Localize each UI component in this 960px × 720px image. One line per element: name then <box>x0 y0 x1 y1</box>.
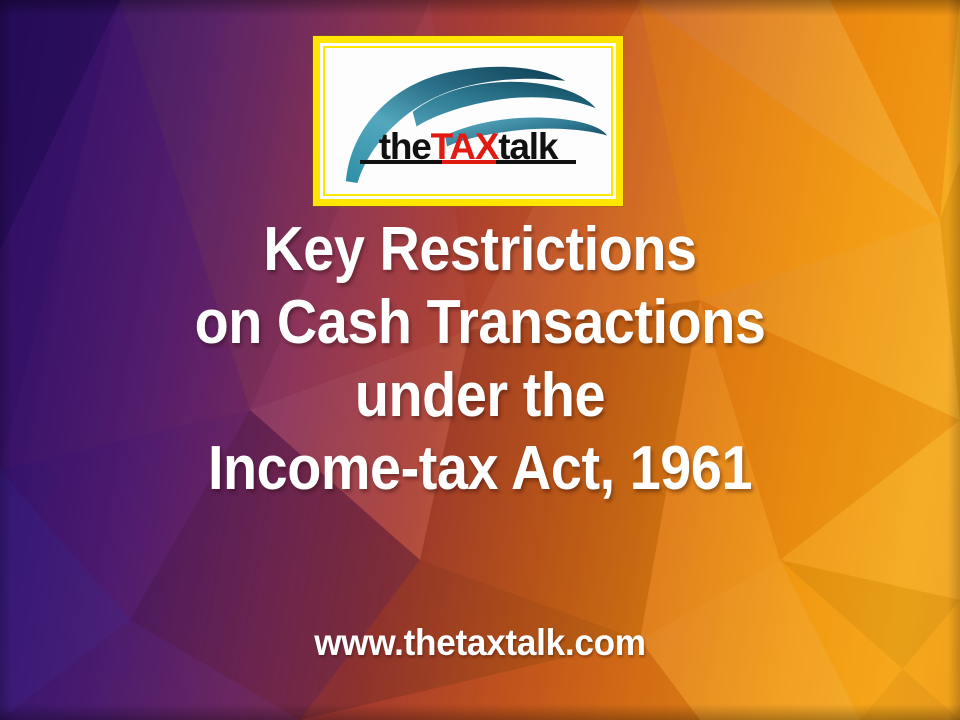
title-line-3: under the <box>48 360 912 433</box>
presentation-slide: theTAXtalk Key Restrictions on Cash Tran… <box>0 0 960 720</box>
website-url: www.thetaxtalk.com <box>24 622 936 664</box>
logo-card-inner: theTAXtalk <box>323 46 613 196</box>
thetaxtalk-logo: theTAXtalk <box>313 36 623 206</box>
title-line-1: Key Restrictions <box>48 214 912 287</box>
title-line-2: on Cash Transactions <box>48 287 912 360</box>
title-line-4: Income-tax Act, 1961 <box>48 433 912 506</box>
logo-underline-rule <box>360 160 576 164</box>
slide-title: Key Restrictions on Cash Transactions un… <box>48 214 912 505</box>
three-arc-swoosh-icon <box>325 48 611 194</box>
